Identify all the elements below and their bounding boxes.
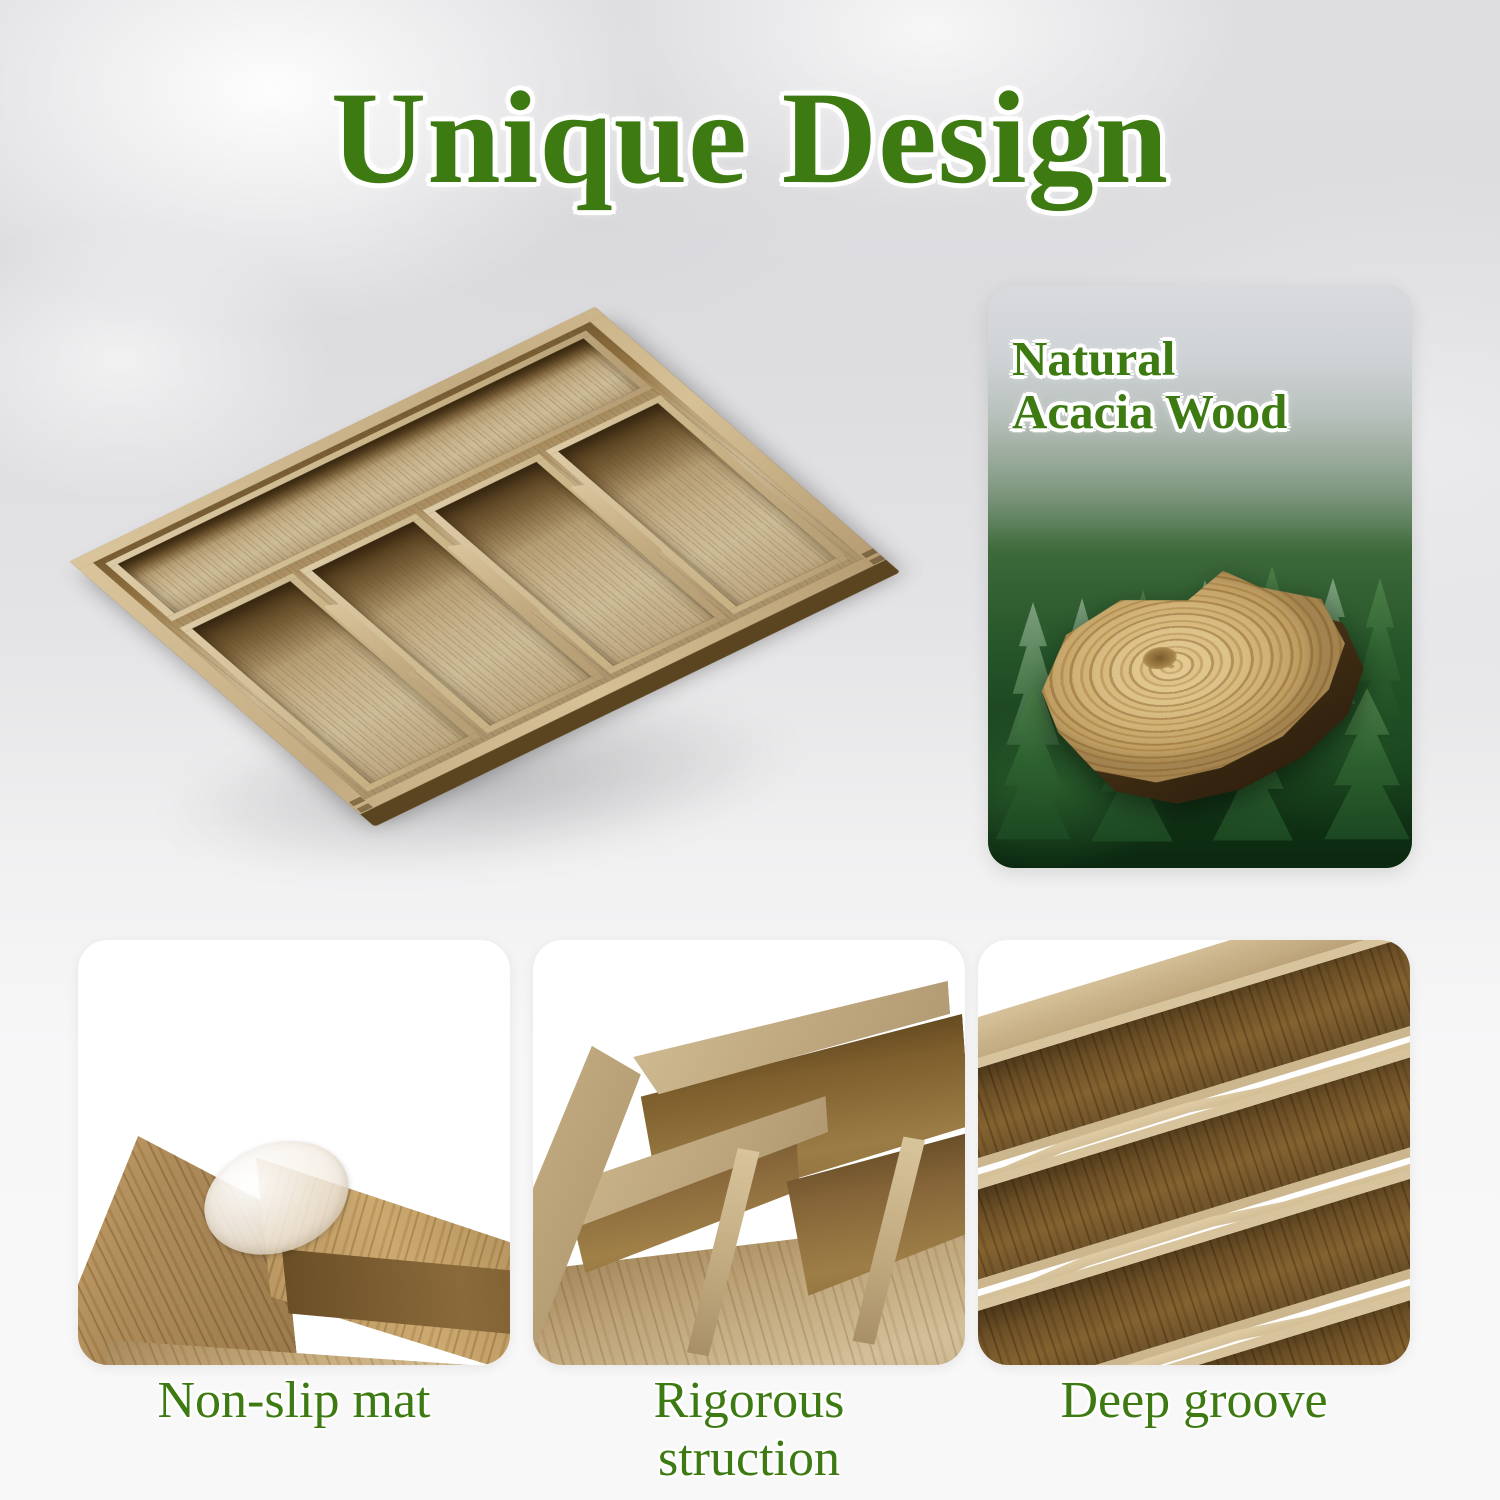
feature-panel-deep-groove — [978, 940, 1410, 1365]
acacia-card-title-line-2: Acacia Wood — [1012, 386, 1398, 439]
feature-caption-line-2: struction — [533, 1430, 965, 1488]
tray-body — [91, 321, 863, 800]
deep-groove-photo — [978, 954, 1410, 1365]
feature-caption-non-slip-mat: Non-slip mat — [78, 1372, 510, 1430]
feature-caption-line-1: Rigorous — [533, 1372, 965, 1430]
cutlery-tray-illustration — [115, 228, 885, 929]
feature-panel-non-slip-mat — [78, 940, 510, 1365]
feature-panel-rigorous-construction — [533, 940, 965, 1365]
rigorous-construction-photo — [533, 978, 965, 1365]
acacia-card-title: Natural Acacia Wood — [1012, 333, 1398, 439]
wood-slice-growth-rings — [1013, 544, 1373, 809]
feature-caption-deep-groove: Deep groove — [978, 1372, 1410, 1430]
acacia-card-title-line-1: Natural — [1012, 333, 1398, 386]
natural-acacia-wood-card: Natural Acacia Wood — [988, 285, 1412, 868]
hero-product-image — [150, 268, 850, 888]
non-slip-mat-photo — [78, 1034, 510, 1365]
feature-caption-rigorous-construction: Rigorous struction — [533, 1372, 965, 1488]
page-title: Unique Design — [0, 72, 1500, 204]
deep-groove-perspective — [978, 940, 1410, 1365]
